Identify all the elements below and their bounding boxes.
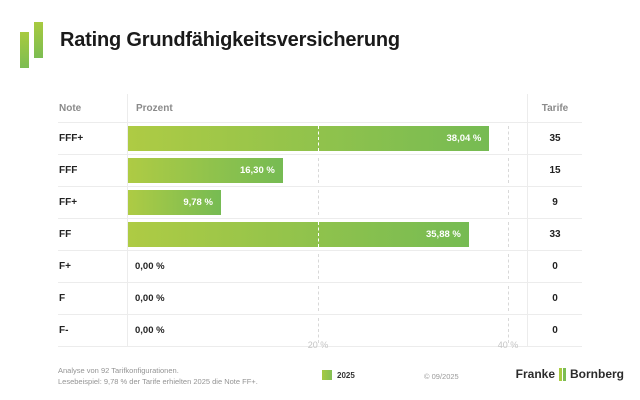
bar-value-label: 38,04 %	[427, 126, 481, 151]
gridline	[508, 286, 509, 311]
footnote-line-1: Analyse von 92 Tarifkonfigurationen.	[58, 365, 258, 376]
row-tarife-count: 35	[528, 123, 582, 154]
gridline	[318, 126, 319, 151]
column-header-tarife: Tarife	[528, 94, 582, 122]
logo-bar-left	[20, 32, 29, 68]
brand-name-first: Franke	[516, 367, 555, 381]
table-row: FF35,88 %33	[58, 219, 582, 251]
row-tarife-count: 0	[528, 251, 582, 282]
row-bar-cell: 0,00 %	[128, 251, 527, 282]
row-bar-cell: 35,88 %	[128, 219, 527, 250]
bar-track: 0,00 %	[128, 254, 527, 279]
brand-bar-1	[559, 368, 562, 381]
brand-name-second: Bornberg	[570, 367, 624, 381]
table-row: F0,00 %0	[58, 283, 582, 315]
row-bar-cell: 16,30 %	[128, 155, 527, 186]
bar-track: 9,78 %	[128, 190, 527, 215]
bar-value-label: 16,30 %	[221, 158, 275, 183]
logo-bar-right	[34, 22, 43, 58]
page-header: Rating Grundfähigkeitsversicherung	[0, 0, 640, 88]
row-tarife-count: 9	[528, 187, 582, 218]
gridline	[508, 158, 509, 183]
axis-tick-label: 40 %	[498, 340, 519, 350]
row-note-label: FF+	[58, 187, 127, 218]
footnote-line-2: Lesebeispiel: 9,78 % der Tarife erhielte…	[58, 376, 258, 387]
row-tarife-count: 33	[528, 219, 582, 250]
page-title: Rating Grundfähigkeitsversicherung	[60, 29, 400, 52]
column-header-note: Note	[58, 94, 127, 122]
column-header-prozent: Prozent	[128, 94, 527, 122]
bar-track: 0,00 %	[128, 286, 527, 311]
franke-bornberg-bars-icon	[20, 22, 46, 68]
row-note-label: F-	[58, 315, 127, 346]
table-row: FF+9,78 %9	[58, 187, 582, 219]
legend-label: 2025	[337, 371, 355, 380]
row-bar-cell: 9,78 %	[128, 187, 527, 218]
bar-value-label: 0,00 %	[135, 254, 165, 279]
gridline	[318, 254, 319, 279]
gridline	[318, 286, 319, 311]
gridline	[508, 222, 509, 247]
axis-tick-label: 20 %	[308, 340, 329, 350]
bar-track: 38,04 %	[128, 126, 527, 151]
row-note-label: FFF	[58, 155, 127, 186]
gridline	[508, 190, 509, 215]
row-note-label: FF	[58, 219, 127, 250]
legend-swatch-icon	[322, 370, 332, 380]
gridline	[318, 222, 319, 247]
brand-bars-icon	[559, 368, 566, 381]
bar-value-label: 9,78 %	[159, 190, 213, 215]
row-note-label: F	[58, 283, 127, 314]
bar-value-label: 35,88 %	[407, 222, 461, 247]
table-row: FFF+38,04 %35	[58, 123, 582, 155]
brand-logo: Franke Bornberg	[516, 367, 624, 381]
row-note-label: F+	[58, 251, 127, 282]
gridline	[508, 126, 509, 151]
page-footer: Analyse von 92 Tarifkonfigurationen. Les…	[0, 362, 640, 400]
gridline	[508, 254, 509, 279]
brand-bar-2	[563, 368, 566, 381]
row-tarife-count: 15	[528, 155, 582, 186]
row-bar-cell: 38,04 %	[128, 123, 527, 154]
table-header-row: NoteProzentTarife	[58, 94, 582, 123]
chart-legend: 2025	[322, 370, 355, 380]
bar-value-label: 0,00 %	[135, 286, 165, 311]
bar-track: 16,30 %	[128, 158, 527, 183]
copyright-text: © 09/2025	[424, 372, 459, 381]
table-row: F+0,00 %0	[58, 251, 582, 283]
gridline	[318, 190, 319, 215]
footnote: Analyse von 92 Tarifkonfigurationen. Les…	[58, 365, 258, 387]
bar-track: 35,88 %	[128, 222, 527, 247]
gridline	[318, 158, 319, 183]
rating-table: NoteProzentTarifeFFF+38,04 %35FFF16,30 %…	[58, 94, 582, 347]
x-axis-labels: 20 %40 %	[128, 340, 548, 354]
row-tarife-count: 0	[528, 283, 582, 314]
row-note-label: FFF+	[58, 123, 127, 154]
row-bar-cell: 0,00 %	[128, 283, 527, 314]
table-row: FFF16,30 %15	[58, 155, 582, 187]
